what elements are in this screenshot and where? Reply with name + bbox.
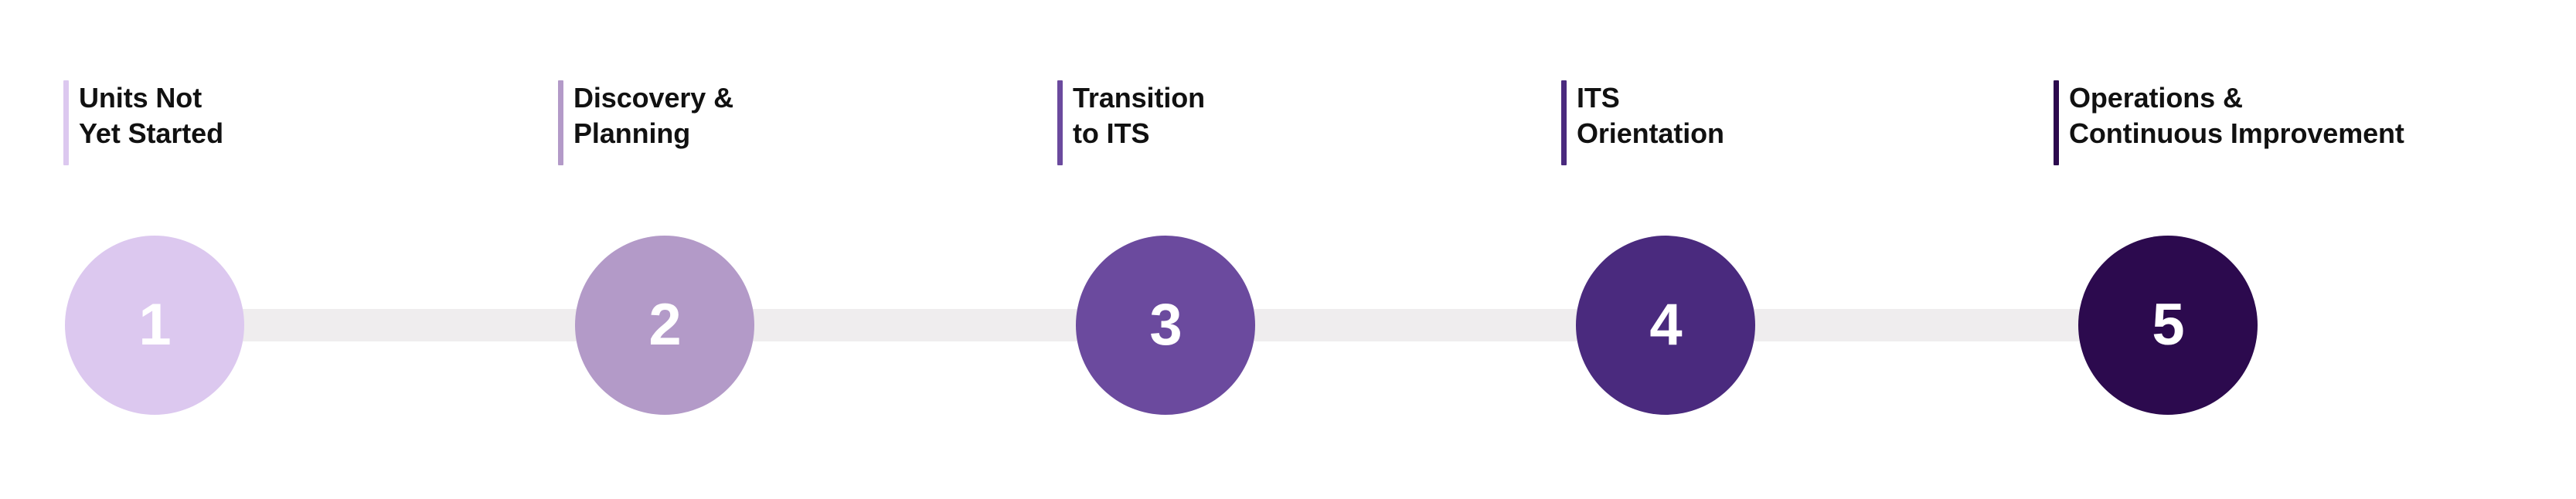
stepper-step-5[interactable]: Operations & Continuous Improvement 5 bbox=[0, 0, 2576, 499]
step-5-label-line-2: Continuous Improvement bbox=[2069, 116, 2404, 151]
step-1-circle[interactable]: 1 bbox=[65, 236, 244, 415]
step-4-number: 4 bbox=[1649, 296, 1681, 355]
step-5-accent-bar bbox=[2054, 80, 2059, 165]
stage-progression-stepper: Units Not Yet Started 1 Discovery & Plan… bbox=[0, 0, 2576, 499]
step-5-number: 5 bbox=[2152, 296, 2183, 355]
step-5-label-block: Operations & Continuous Improvement bbox=[2054, 80, 2404, 165]
step-2-circle[interactable]: 2 bbox=[575, 236, 754, 415]
step-1-number: 1 bbox=[138, 296, 170, 355]
step-4-circle[interactable]: 4 bbox=[1576, 236, 1755, 415]
step-5-label-line-1: Operations & bbox=[2069, 80, 2404, 116]
step-3-number: 3 bbox=[1149, 296, 1181, 355]
step-5-label: Operations & Continuous Improvement bbox=[2059, 80, 2404, 165]
step-5-circle[interactable]: 5 bbox=[2078, 236, 2258, 415]
step-2-number: 2 bbox=[648, 296, 680, 355]
step-3-circle[interactable]: 3 bbox=[1076, 236, 1255, 415]
